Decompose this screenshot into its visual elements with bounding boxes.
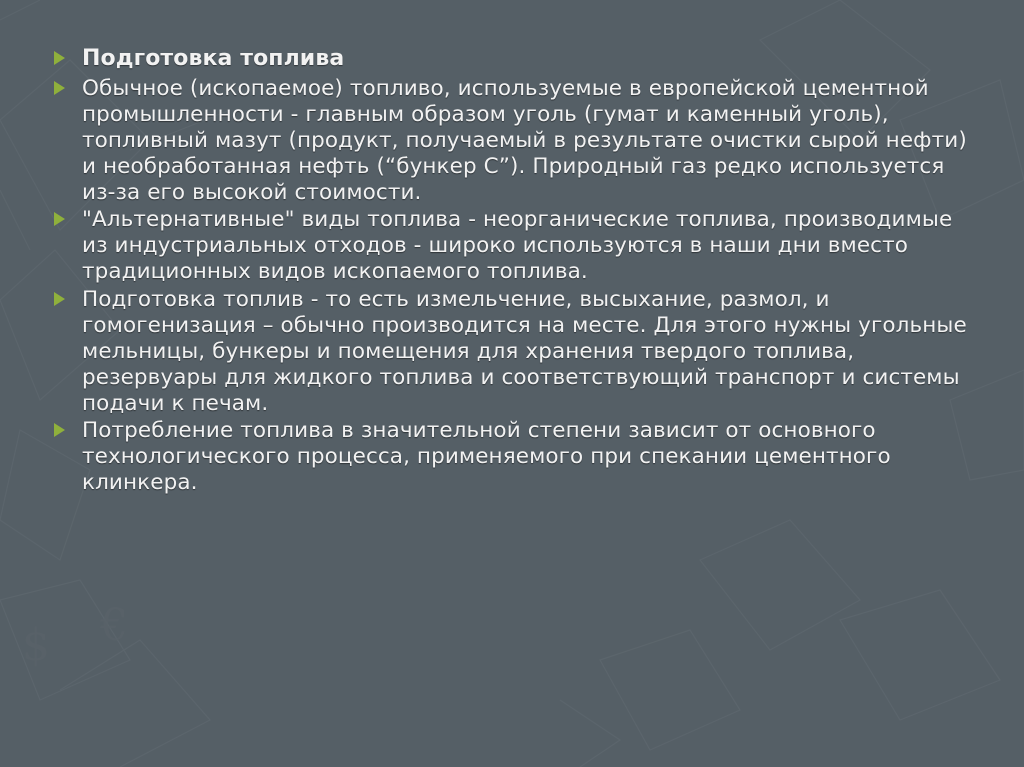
slide-content: Подготовка топлива Обычное (ископаемое) … xyxy=(0,0,1024,497)
list-item: Обычное (ископаемое) топливо, используем… xyxy=(40,76,984,207)
bullet-arrow-icon xyxy=(54,81,65,95)
svg-text:$: $ xyxy=(22,620,50,671)
list-item: Подготовка топлив - то есть измельчение,… xyxy=(40,287,984,418)
bullet-list: Подготовка топлива Обычное (ископаемое) … xyxy=(40,46,984,496)
bullet-text: Обычное (ископаемое) топливо, используем… xyxy=(82,76,984,207)
bullet-arrow-icon xyxy=(54,51,65,65)
bullet-text: Потребление топлива в значительной степе… xyxy=(82,418,984,496)
bullet-text: "Альтернативные" виды топлива - неоргани… xyxy=(82,207,984,285)
bullet-arrow-icon xyxy=(54,212,65,226)
list-item: Подготовка топлива xyxy=(40,46,984,73)
bullet-arrow-icon xyxy=(54,292,65,306)
slide: $ € Подготовка топлива Обычное (ископаем… xyxy=(0,0,1024,767)
list-item: Потребление топлива в значительной степе… xyxy=(40,418,984,496)
bullet-text: Подготовка топлив - то есть измельчение,… xyxy=(82,287,984,418)
bullet-text: Подготовка топлива xyxy=(82,46,984,73)
list-item: "Альтернативные" виды топлива - неоргани… xyxy=(40,207,984,285)
svg-text:€: € xyxy=(99,600,128,651)
bullet-arrow-icon xyxy=(54,423,65,437)
